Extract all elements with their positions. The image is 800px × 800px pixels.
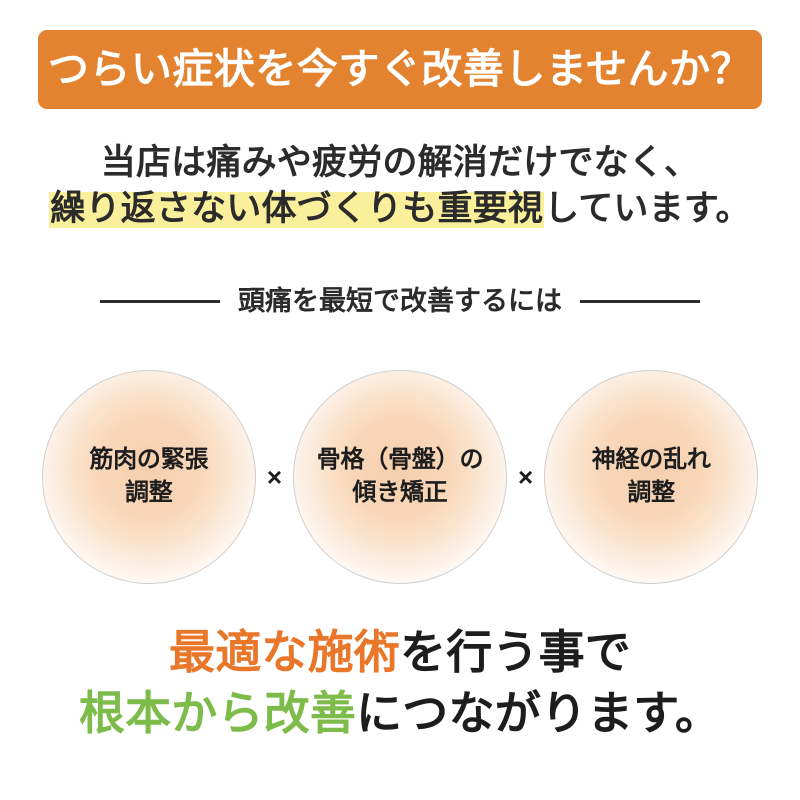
method-circle-1: 筋肉の緊張 調整 xyxy=(42,370,256,584)
divider-label: 頭痛を最短で改善するには xyxy=(238,288,562,315)
header-banner: つらい症状を今すぐ改善しませんか？ xyxy=(38,30,762,109)
multiply-icon-1: × xyxy=(264,464,285,490)
lead-copy: 当店は痛みや疲労の解消だけでなく、 繰り返さない体づくりも重要視しています。 xyxy=(0,140,800,232)
conclusion-line-2: 根本から改善につながります。 xyxy=(0,683,800,744)
conclusion-line-2-rest: につながります。 xyxy=(356,687,721,739)
conclusion-line-2-accent: 根本から改善 xyxy=(79,687,356,739)
conclusion-line-1-rest: を行う事で xyxy=(400,626,631,678)
method-circle-2-label: 骨格（骨盤）の 傾き矯正 xyxy=(317,444,484,509)
lead-line-2: 繰り返さない体づくりも重要視しています。 xyxy=(0,186,800,232)
method-circle-3: 神経の乱れ 調整 xyxy=(544,370,758,584)
header-banner-text: つらい症状を今すぐ改善しませんか？ xyxy=(48,49,752,90)
divider-rule-left xyxy=(100,300,220,303)
divider-rule-right xyxy=(580,300,700,303)
method-circle-3-label: 神経の乱れ 調整 xyxy=(592,444,711,509)
conclusion-line-1: 最適な施術を行う事で xyxy=(0,622,800,683)
lead-line-1-text: 当店は痛みや疲労の解消だけでなく、 xyxy=(101,143,699,182)
method-circle-1-label: 筋肉の緊張 調整 xyxy=(89,444,208,509)
section-divider: 頭痛を最短で改善するには xyxy=(0,288,800,315)
method-circle-2: 骨格（骨盤）の 傾き矯正 xyxy=(293,370,507,584)
conclusion-line-1-accent: 最適な施術 xyxy=(169,626,400,678)
lead-line-1: 当店は痛みや疲労の解消だけでなく、 xyxy=(0,140,800,186)
promo-graphic: つらい症状を今すぐ改善しませんか？ 当店は痛みや疲労の解消だけでなく、 繰り返さ… xyxy=(0,0,800,800)
conclusion-copy: 最適な施術を行う事で 根本から改善につながります。 xyxy=(0,622,800,743)
lead-line-2-rest: しています。 xyxy=(544,189,751,228)
method-circles: 筋肉の緊張 調整 × 骨格（骨盤）の 傾き矯正 × 神経の乱れ 調整 xyxy=(0,368,800,586)
multiply-icon-2: × xyxy=(515,464,536,490)
lead-line-2-highlight: 繰り返さない体づくりも重要視 xyxy=(49,189,544,228)
